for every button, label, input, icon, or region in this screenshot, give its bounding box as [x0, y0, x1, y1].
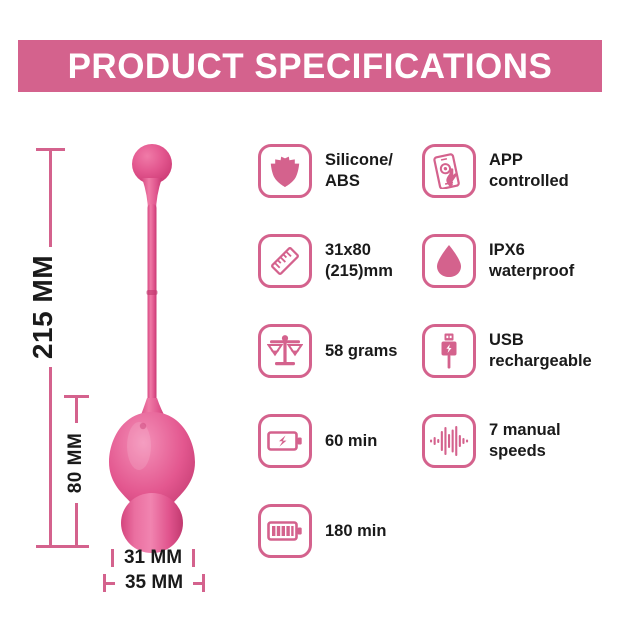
balance-scale-icon-box [258, 324, 312, 378]
spec-item-app-control: APP controlled [422, 144, 569, 198]
dimension-body-width: 31 MM [98, 545, 208, 571]
spec-label-material: Silicone/ ABS [325, 150, 393, 191]
dimension-cap-left [103, 574, 115, 592]
product-diagram-panel: 215 MM 80 MM [0, 130, 250, 600]
smartphone-touch-icon-box [422, 144, 476, 198]
spec-item-weight: 58 grams [258, 324, 397, 378]
specifications-grid: Silicone/ ABS 31x80 (215)mm [258, 144, 620, 594]
spec-item-speeds: 7 manual speeds [422, 414, 561, 468]
product-illustration [95, 138, 210, 553]
dimension-max-width: 35 MM [84, 570, 224, 596]
dimension-max-width-label: 35 MM [115, 572, 193, 594]
sound-wave-icon-box [422, 414, 476, 468]
battery-full-icon [267, 519, 303, 543]
ruler-icon-box [258, 234, 312, 288]
usb-plug-icon-box [422, 324, 476, 378]
shield-icon-box [258, 144, 312, 198]
balance-scale-icon [267, 334, 303, 368]
spec-label-weight: 58 grams [325, 341, 397, 362]
dimension-tick-right [192, 549, 195, 567]
sound-wave-icon [429, 424, 469, 458]
dimension-total-length-label: 215 MM [24, 247, 62, 367]
header-banner: PRODUCT SPECIFICATIONS [18, 40, 602, 92]
smartphone-touch-icon [432, 153, 466, 189]
spec-label-speeds: 7 manual speeds [489, 420, 561, 461]
battery-charging-icon-box [258, 414, 312, 468]
shield-icon [269, 154, 301, 188]
spec-item-size: 31x80 (215)mm [258, 234, 393, 288]
battery-charging-icon [267, 429, 303, 453]
page-title: PRODUCT SPECIFICATIONS [68, 49, 553, 84]
spec-item-waterproof: IPX6 waterproof [422, 234, 574, 288]
spec-item-material: Silicone/ ABS [258, 144, 393, 198]
water-droplet-icon-box [422, 234, 476, 288]
dimension-cap-right [193, 574, 205, 592]
spec-label-size: 31x80 (215)mm [325, 240, 393, 281]
dimension-body-width-label: 31 MM [114, 547, 192, 569]
dimension-cap-bottom [64, 545, 89, 548]
spec-label-charge-time: 180 min [325, 521, 386, 542]
dimension-body-length-label: 80 MM [63, 423, 89, 503]
battery-full-icon-box [258, 504, 312, 558]
spec-item-usb: USB rechargeable [422, 324, 592, 378]
water-droplet-icon [435, 244, 463, 278]
usb-plug-icon [436, 332, 462, 370]
spec-label-app-control: APP controlled [489, 150, 569, 191]
spec-item-charge-time: 180 min [258, 504, 386, 558]
spec-item-runtime: 60 min [258, 414, 377, 468]
product-specifications-infographic: PRODUCT SPECIFICATIONS 215 MM 80 MM [0, 0, 620, 620]
spec-label-waterproof: IPX6 waterproof [489, 240, 574, 281]
dimension-cap-bottom [36, 545, 65, 548]
spec-label-usb: USB rechargeable [489, 330, 592, 371]
ruler-icon [268, 244, 302, 278]
spec-label-runtime: 60 min [325, 431, 377, 452]
